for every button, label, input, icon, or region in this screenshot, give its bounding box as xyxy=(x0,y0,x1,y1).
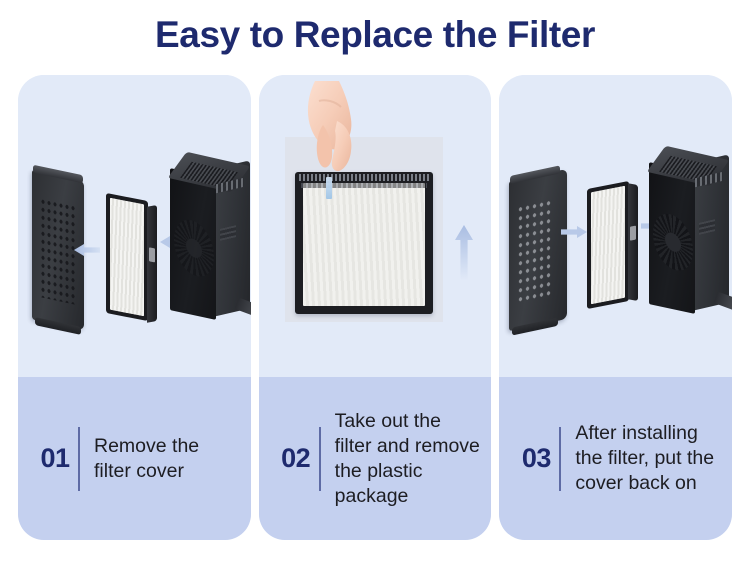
packaged-filter xyxy=(295,172,433,314)
step-card-02: 02 Take out the filter and remove the pl… xyxy=(259,75,492,540)
hand-icon xyxy=(301,81,369,181)
step-number-02: 02 xyxy=(273,443,319,474)
purifier-body-part xyxy=(170,165,248,315)
filter-label-subtext xyxy=(301,183,427,188)
caption-divider xyxy=(559,427,561,491)
hepa-filter-side xyxy=(147,205,157,323)
arrow-left-icon xyxy=(74,243,100,257)
caption-divider xyxy=(78,427,80,491)
filter-cover-part xyxy=(509,169,567,331)
step-03-illustration xyxy=(499,75,732,377)
step-number-01: 01 xyxy=(32,443,78,474)
filter-media-surface xyxy=(303,183,425,306)
step-02-caption: 02 Take out the filter and remove the pl… xyxy=(259,377,492,540)
plastic-package-tab xyxy=(326,177,332,199)
purifier-fan xyxy=(653,207,693,278)
caption-divider xyxy=(319,427,321,491)
step-02-illustration xyxy=(259,75,492,377)
steps-container: 01 Remove the filter cover xyxy=(18,75,732,540)
cover-perforation-pattern xyxy=(40,197,76,305)
purifier-body-front xyxy=(170,168,216,320)
hepa-filter-handle xyxy=(149,247,155,262)
hepa-filter-media xyxy=(110,198,144,317)
step-card-03: 03 After installing the filter, put the … xyxy=(499,75,732,540)
step-01-caption: 01 Remove the filter cover xyxy=(18,377,251,540)
purifier-fan xyxy=(174,213,214,284)
hepa-filter-media xyxy=(591,186,625,305)
step-caption-text-01: Remove the filter cover xyxy=(94,434,241,484)
step-caption-text-03: After installing the filter, put the cov… xyxy=(575,421,722,496)
step-caption-text-02: Take out the filter and remove the plast… xyxy=(335,409,482,509)
arrow-right-icon xyxy=(561,225,587,239)
hepa-filter-part xyxy=(587,181,629,309)
step-number-03: 03 xyxy=(513,443,559,474)
arrow-up-icon xyxy=(455,225,473,281)
hepa-filter-part xyxy=(106,193,148,321)
step-03-caption: 03 After installing the filter, put the … xyxy=(499,377,732,540)
step-card-01: 01 Remove the filter cover xyxy=(18,75,251,540)
power-cord xyxy=(714,292,732,311)
cover-perforation-pattern xyxy=(517,198,553,306)
purifier-body-part xyxy=(649,159,727,309)
filter-label-text xyxy=(299,174,429,181)
purifier-body-front xyxy=(649,162,695,314)
power-cord xyxy=(235,298,251,317)
hepa-filter-side xyxy=(628,183,638,301)
hepa-filter-handle xyxy=(630,226,636,241)
hepa-filter-face xyxy=(106,193,148,321)
hepa-filter-face xyxy=(587,181,629,309)
step-01-illustration xyxy=(18,75,251,377)
page-title: Easy to Replace the Filter xyxy=(0,14,750,56)
